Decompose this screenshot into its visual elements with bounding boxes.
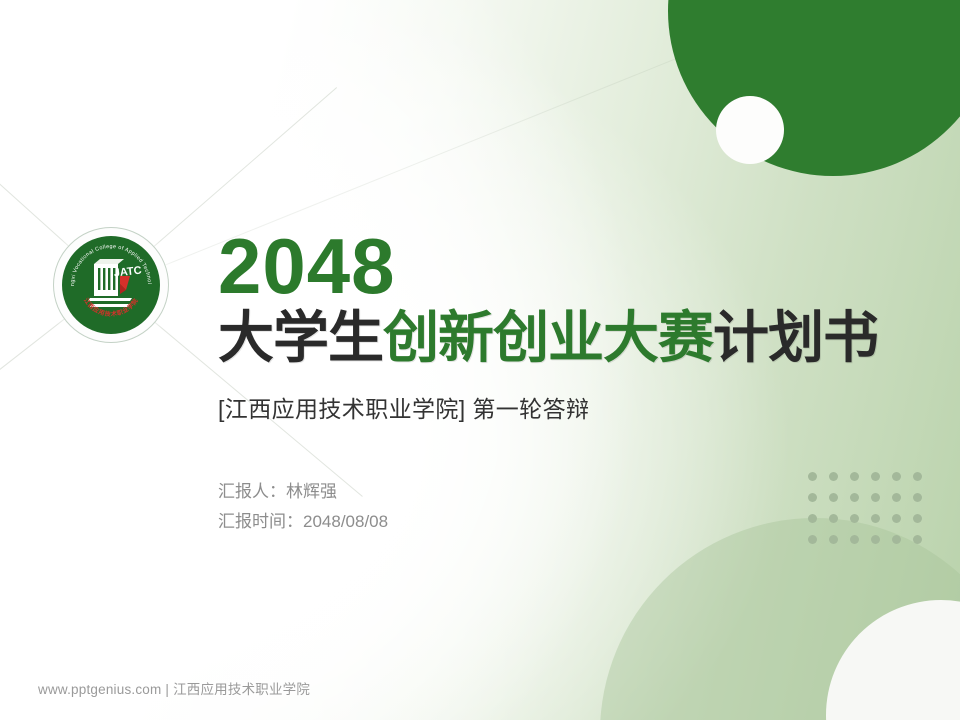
white-dot-decoration (716, 96, 784, 164)
main-title-lead: 大学生 (218, 306, 383, 369)
subtitle: [江西应用技术职业学院] 第一轮答辩 (218, 390, 918, 424)
logo-emblem-icon: Jiangxi Vocational College of Applied Te… (44, 218, 178, 352)
presenter-line: 汇报人：林辉强 (218, 477, 918, 507)
title-text-block: 2048 大学生创新创业大赛计划书 [江西应用技术职业学院] 第一轮答辩 汇报人… (218, 228, 918, 536)
college-logo: Jiangxi Vocational College of Applied Te… (44, 218, 178, 352)
presentation-meta: 汇报人：林辉强 汇报时间：2048/08/08 (218, 477, 918, 537)
svg-text:JATC: JATC (113, 265, 142, 280)
main-title-tail: 计划书 (713, 306, 878, 369)
main-title: 大学生创新创业大赛计划书 (218, 308, 918, 367)
footer-text: www.pptgenius.com | 江西应用技术职业学院 (38, 678, 310, 698)
date-line: 汇报时间：2048/08/08 (218, 507, 918, 537)
main-title-emphasis: 创新创业大赛 (383, 306, 713, 369)
year-heading: 2048 (218, 228, 918, 304)
title-slide: Jiangxi Vocational College of Applied Te… (0, 0, 960, 720)
